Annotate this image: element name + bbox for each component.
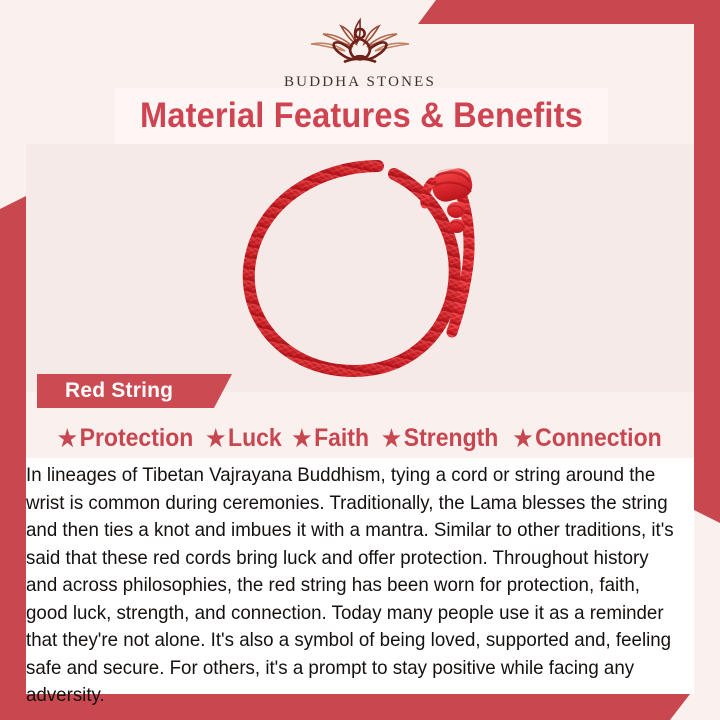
description-text: In lineages of Tibetan Vajrayana Buddhis… xyxy=(26,462,675,710)
red-braided-string-bracelet-icon xyxy=(226,152,494,384)
product-tag-label: Red String xyxy=(37,379,173,403)
benefit-item: ★ Strength xyxy=(382,424,498,453)
star-icon: ★ xyxy=(293,427,312,450)
benefit-label: Faith xyxy=(314,424,369,453)
star-icon: ★ xyxy=(58,427,77,450)
star-icon: ★ xyxy=(206,427,225,450)
benefits-list: ★ Protection ★ Luck ★ Faith ★ Strength ★… xyxy=(26,418,694,458)
lotus-meditation-icon xyxy=(260,14,460,72)
benefit-item: ★ Faith xyxy=(293,424,370,453)
benefit-item: ★ Protection xyxy=(58,424,193,453)
benefit-item: ★ Luck xyxy=(206,424,281,453)
infographic-page: BUDDHA STONES Material Features & Benefi… xyxy=(0,0,720,720)
benefit-label: Connection xyxy=(535,424,662,453)
benefit-label: Luck xyxy=(228,424,282,453)
description-panel: In lineages of Tibetan Vajrayana Buddhis… xyxy=(26,458,694,694)
product-image-stage xyxy=(26,144,694,392)
star-icon: ★ xyxy=(513,427,532,450)
brand-logo: BUDDHA STONES xyxy=(260,14,460,91)
brand-header: BUDDHA STONES xyxy=(0,0,720,90)
star-icon: ★ xyxy=(382,427,401,450)
page-title: Material Features & Benefits xyxy=(132,88,590,144)
benefit-item: ★ Connection xyxy=(513,424,661,453)
benefit-label: Protection xyxy=(80,424,194,453)
decorative-left-bar xyxy=(0,196,26,694)
benefit-label: Strength xyxy=(403,424,498,453)
product-tag: Red String xyxy=(37,374,232,408)
